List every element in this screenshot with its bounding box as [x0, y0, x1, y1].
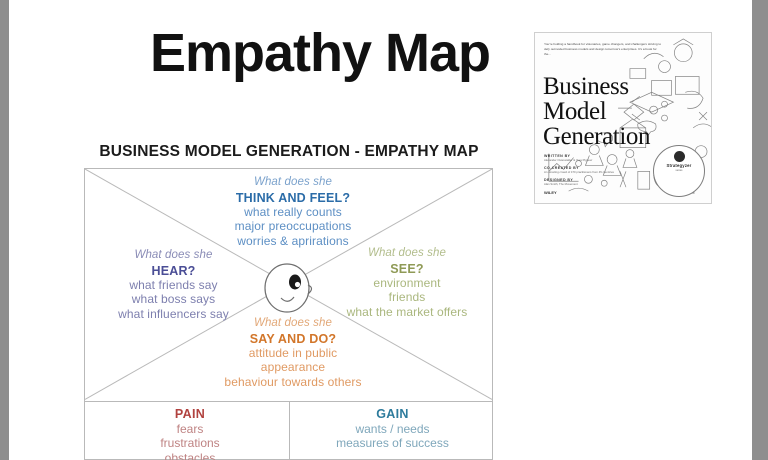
persona-face-icon — [259, 257, 319, 319]
quadrant-lead: What does she — [193, 176, 393, 190]
slide-canvas: Empathy Map BUSINESS MODEL GENERATION - … — [0, 0, 768, 460]
section-heading: GAIN — [295, 407, 490, 422]
quadrant-heading: SEE? — [323, 262, 491, 277]
section-item: obstacles — [95, 451, 285, 460]
section-heading: PAIN — [95, 407, 285, 422]
credit-names: Alan Smith, The Movement — [544, 182, 578, 186]
quadrant-item: attitude in public — [193, 346, 393, 360]
right-edge-bar — [752, 0, 768, 460]
strategyzer-name: Strategyzer — [654, 163, 704, 168]
quadrant-item: friends — [323, 290, 491, 304]
quadrant-item: worries & aprirations — [193, 234, 393, 248]
book-credit-designed-by: DESIGNED BY Alan Smith, The Movement — [544, 178, 578, 186]
credit-names: Alexander Osterwalder & Yves Pigneur — [544, 158, 592, 162]
book-credit-written-by: WRITTEN BY Alexander Osterwalder & Yves … — [544, 154, 592, 162]
quadrant-heading: SAY AND DO? — [193, 332, 393, 347]
map-subtitle: BUSINESS MODEL GENERATION - EMPATHY MAP — [84, 143, 494, 161]
book-title-line-3: Generation — [543, 124, 650, 149]
quadrant-lead: What does she — [323, 247, 491, 261]
section-item: measures of success — [295, 436, 490, 450]
empathy-map-frame: What does she THINK AND FEEL? what reall… — [84, 168, 493, 460]
quadrant-item: what boss says — [91, 292, 256, 306]
credit-names: An amazing crowd of 470 practitioners fr… — [544, 170, 614, 174]
quadrant-think-and-feel: What does she THINK AND FEEL? what reall… — [193, 176, 393, 248]
book-title-line-1: Business — [543, 74, 629, 99]
quadrant-item: behaviour towards others — [193, 375, 393, 389]
section-item: wants / needs — [295, 422, 490, 436]
strategyzer-badge: Strategyzer series — [653, 145, 705, 197]
quadrant-item: appearance — [193, 360, 393, 374]
pain-gain-divider — [289, 401, 290, 460]
quadrant-heading: HEAR? — [91, 264, 256, 279]
quadrant-say-and-do: What does she SAY AND DO? attitude in pu… — [193, 317, 393, 389]
publisher-logo: WILEY — [544, 190, 557, 195]
strategyzer-logo-icon — [674, 151, 685, 162]
section-item: fears — [95, 422, 285, 436]
quadrant-lead: What does she — [193, 317, 393, 331]
section-pain: PAIN fears frustrations obstacles — [95, 407, 285, 460]
book-credit-co-created-by: CO-CREATED BY An amazing crowd of 470 pr… — [544, 166, 614, 174]
book-title-line-2: Model — [543, 99, 606, 124]
quadrant-item: environment — [323, 276, 491, 290]
book-tagline: You're holding a handbook for visionarie… — [544, 42, 662, 56]
book-cover-image: You're holding a handbook for visionarie… — [534, 32, 712, 204]
quadrant-see: What does she SEE? environment friends w… — [323, 247, 491, 319]
quadrant-item: what friends say — [91, 278, 256, 292]
page-title: Empathy Map — [120, 25, 520, 82]
section-gain: GAIN wants / needs measures of success — [295, 407, 490, 451]
quadrant-item: major preoccupations — [193, 219, 393, 233]
quadrant-lead: What does she — [91, 249, 256, 263]
quadrant-heading: THINK AND FEEL? — [193, 191, 393, 206]
quadrant-item: what really counts — [193, 205, 393, 219]
quadrant-hear: What does she HEAR? what friends say wha… — [91, 249, 256, 321]
left-edge-bar — [0, 0, 9, 460]
section-item: frustrations — [95, 436, 285, 450]
strategyzer-sub: series — [654, 169, 704, 173]
